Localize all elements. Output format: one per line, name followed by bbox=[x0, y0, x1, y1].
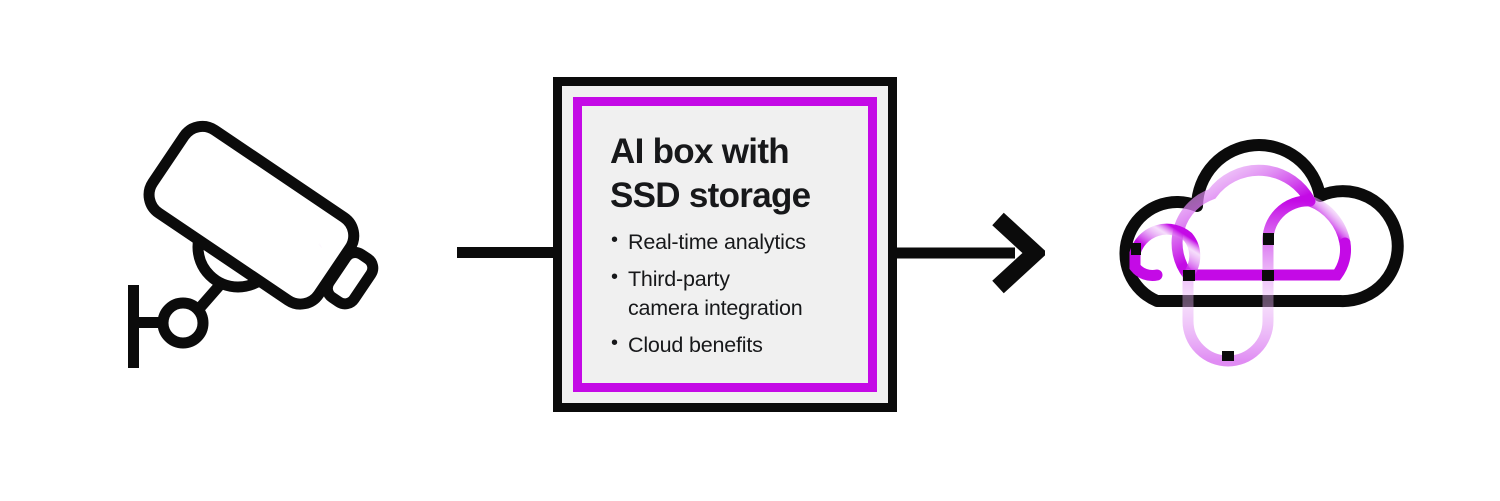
list-item: Cloud benefits bbox=[610, 331, 846, 360]
ai-box-card: AI box withSSD storage Real-time analyti… bbox=[553, 77, 897, 412]
cloud-icon bbox=[1105, 125, 1405, 375]
connector-camera-to-box bbox=[457, 247, 557, 258]
diagram-canvas: AI box withSSD storage Real-time analyti… bbox=[0, 0, 1500, 501]
cloud-cross-tick bbox=[1263, 233, 1274, 245]
list-item: Real-time analytics bbox=[610, 228, 846, 257]
ai-box-title: AI box withSSD storage bbox=[610, 130, 846, 218]
ai-box-inner-border: AI box withSSD storage Real-time analyti… bbox=[573, 97, 877, 392]
ai-box-feature-list: Real-time analytics Third-partycamera in… bbox=[610, 228, 846, 360]
ai-box-content: AI box withSSD storage Real-time analyti… bbox=[582, 106, 868, 383]
cloud-cross-tick bbox=[1183, 270, 1195, 281]
security-camera-icon bbox=[110, 95, 410, 380]
connector-box-to-cloud bbox=[895, 210, 1045, 296]
cloud-cross-tick bbox=[1222, 351, 1234, 361]
list-item: Third-partycamera integration bbox=[610, 265, 846, 322]
cloud-cross-tick bbox=[1262, 270, 1274, 281]
cloud-cross-tick bbox=[1131, 243, 1141, 255]
